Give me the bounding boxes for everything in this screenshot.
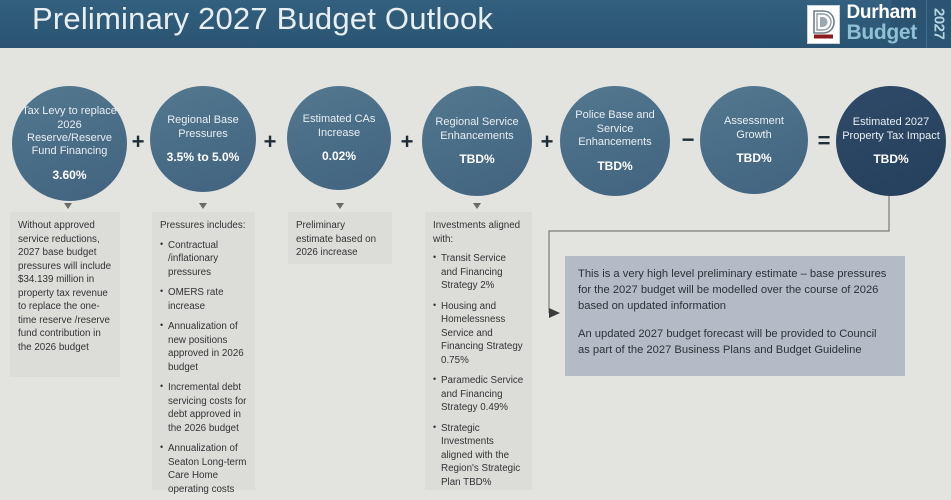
list-item: OMERS rate increase — [160, 286, 247, 313]
node-regional-service-enhancements[interactable]: Regional Service Enhancements TBD% — [422, 86, 532, 196]
callout-intro: Investments aligned with: — [433, 219, 524, 246]
node-label: Assessment Growth — [700, 115, 808, 142]
node-value: 3.60% — [52, 168, 86, 182]
list-item: Annualization of Seaton Long-term Care H… — [160, 442, 247, 496]
node-estimated-cas-increase[interactable]: Estimated CAs Increase 0.02% — [287, 86, 391, 190]
stem-arrow-3 — [336, 203, 344, 209]
callout-bullet-list: Transit Service and Financing Strategy 2… — [433, 252, 524, 489]
stem-arrow-4 — [473, 203, 481, 209]
node-estimated-2027-property-tax-impact[interactable]: Estimated 2027 Property Tax Impact TBD% — [836, 86, 946, 196]
node-value: 3.5% to 5.0% — [167, 150, 240, 164]
node-value: TBD% — [597, 159, 632, 173]
node-label: Tax Levy to replace 2026 Reserve/Reserve… — [12, 105, 127, 159]
operator-minus: − — [677, 129, 699, 151]
list-item: Contractual /inflationary pressures — [160, 239, 247, 280]
operator-plus-3: + — [396, 131, 418, 153]
node-assessment-growth[interactable]: Assessment Growth TBD% — [700, 86, 808, 194]
callout-intro: Pressures includes: — [160, 219, 247, 233]
list-item: Paramedic Service and Financing Strategy… — [433, 374, 524, 415]
callout-base-pressures-note: Pressures includes: Contractual /inflati… — [152, 212, 255, 490]
node-label: Estimated CAs Increase — [287, 113, 391, 140]
list-item: Strategic Investments aligned with the R… — [433, 422, 524, 490]
operator-plus-1: + — [127, 131, 149, 153]
callout-text: Preliminary estimate based on 2026 incre… — [296, 219, 384, 260]
slide-canvas: Preliminary 2027 Budget Outlook Durham B… — [0, 0, 951, 500]
stem-arrow-1 — [64, 203, 72, 209]
logo-wordmark: Durham Budget — [846, 4, 917, 43]
slide-header: Preliminary 2027 Budget Outlook Durham B… — [0, 0, 951, 48]
operator-plus-2: + — [259, 131, 281, 153]
durham-region-logo-icon — [807, 5, 840, 44]
note-paragraph-1: This is a very high level preliminary es… — [578, 267, 891, 315]
callout-tax-levy-note: Without approved service reductions, 202… — [10, 212, 120, 377]
node-value: 0.02% — [322, 149, 356, 163]
node-police-base-service-enhancements[interactable]: Police Base and Service Enhancements TBD… — [560, 86, 670, 196]
list-item: Housing and Homelessness Service and Fin… — [433, 300, 524, 368]
preliminary-estimate-note-box: This is a very high level preliminary es… — [565, 256, 905, 376]
operator-plus-4: + — [536, 131, 558, 153]
operator-equals: = — [813, 130, 835, 152]
node-label: Police Base and Service Enhancements — [560, 109, 670, 149]
node-value: TBD% — [459, 152, 494, 166]
year-tab: 2027 — [926, 0, 951, 48]
node-value: TBD% — [736, 151, 771, 165]
list-item: Incremental debt servicing costs for deb… — [160, 381, 247, 435]
page-title: Preliminary 2027 Budget Outlook — [32, 1, 493, 37]
note-paragraph-2: An updated 2027 budget forecast will be … — [578, 327, 891, 359]
callout-service-enhancements-note: Investments aligned with: Transit Servic… — [425, 212, 532, 490]
callout-text: Without approved service reductions, 202… — [18, 219, 112, 354]
list-item: Transit Service and Financing Strategy 2… — [433, 252, 524, 293]
node-regional-base-pressures[interactable]: Regional Base Pressures 3.5% to 5.0% — [150, 86, 256, 192]
callout-cas-note: Preliminary estimate based on 2026 incre… — [288, 212, 392, 264]
callout-bullet-list: Contractual /inflationary pressures OMER… — [160, 239, 247, 497]
node-label: Regional Base Pressures — [150, 114, 256, 141]
durham-budget-logo: Durham Budget — [807, 0, 917, 48]
node-tax-levy[interactable]: Tax Levy to replace 2026 Reserve/Reserve… — [12, 86, 127, 201]
node-label: Estimated 2027 Property Tax Impact — [836, 116, 946, 143]
node-value: TBD% — [873, 152, 908, 166]
node-label: Regional Service Enhancements — [422, 116, 532, 143]
list-item: Annualization of new positions approved … — [160, 320, 247, 374]
stem-arrow-2 — [199, 203, 207, 209]
year-tab-label: 2027 — [931, 8, 948, 39]
logo-line-budget: Budget — [846, 23, 917, 44]
